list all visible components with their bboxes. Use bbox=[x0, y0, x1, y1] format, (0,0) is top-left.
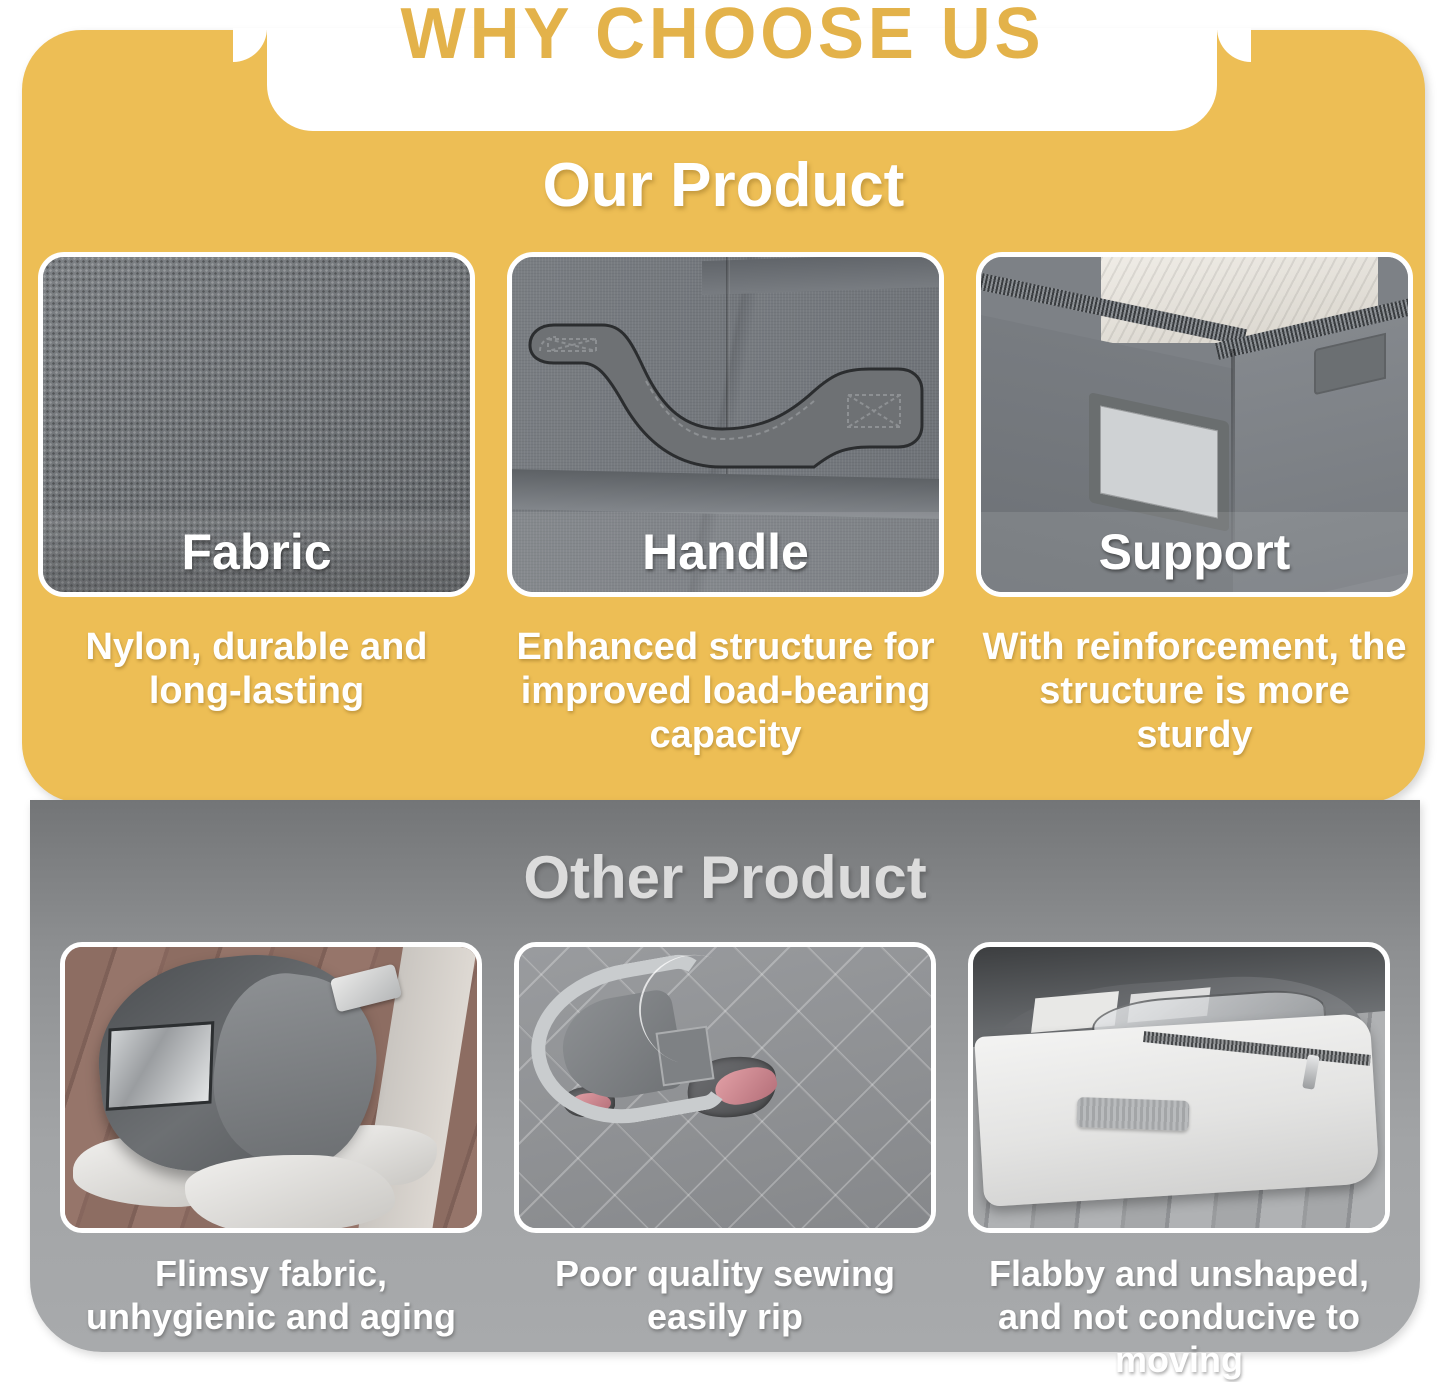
tile-poor-sewing[interactable] bbox=[514, 942, 936, 1233]
tile-support[interactable]: Support bbox=[976, 252, 1413, 597]
other-product-caption-row: Flimsy fabric, unhygienic and aging Poor… bbox=[60, 1252, 1390, 1382]
ripped-seam-photo-image bbox=[519, 947, 931, 1228]
caption-flimsy-fabric: Flimsy fabric, unhygienic and aging bbox=[60, 1252, 482, 1338]
tile-label-fabric: Fabric bbox=[43, 512, 470, 592]
other-product-panel: Other Product bbox=[30, 800, 1420, 1352]
torn-bag-photo-image bbox=[65, 947, 477, 1228]
tile-flimsy-fabric[interactable] bbox=[60, 942, 482, 1233]
banner-title: WHY CHOOSE US bbox=[29, 0, 1416, 70]
our-product-caption-row: Nylon, durable and long-lasting Enhanced… bbox=[38, 625, 1413, 757]
caption-handle: Enhanced structure for improved load-bea… bbox=[507, 625, 944, 757]
leather-handle-strap-shape bbox=[526, 317, 926, 477]
our-product-heading: Our Product bbox=[22, 155, 1425, 217]
other-product-tile-row bbox=[60, 942, 1390, 1233]
caption-poor-sewing: Poor quality sewing easily rip bbox=[514, 1252, 936, 1338]
tile-flabby-bag[interactable] bbox=[968, 942, 1390, 1233]
tile-handle[interactable]: Handle bbox=[507, 252, 944, 597]
our-product-tile-row: Fabric bbox=[38, 252, 1413, 597]
tile-fabric[interactable]: Fabric bbox=[38, 252, 475, 597]
caption-fabric: Nylon, durable and long-lasting bbox=[38, 625, 475, 713]
flabby-bag-photo-image bbox=[973, 947, 1385, 1228]
other-product-heading: Other Product bbox=[30, 848, 1420, 908]
tile-label-support: Support bbox=[981, 512, 1408, 592]
infographic-stage: Our Product Fabric bbox=[0, 0, 1445, 1373]
tile-label-handle: Handle bbox=[512, 512, 939, 592]
our-product-panel: Our Product Fabric bbox=[22, 30, 1425, 803]
caption-support: With reinforcement, the structure is mor… bbox=[976, 625, 1413, 757]
caption-flabby-bag: Flabby and unshaped, and not conducive t… bbox=[968, 1252, 1390, 1382]
